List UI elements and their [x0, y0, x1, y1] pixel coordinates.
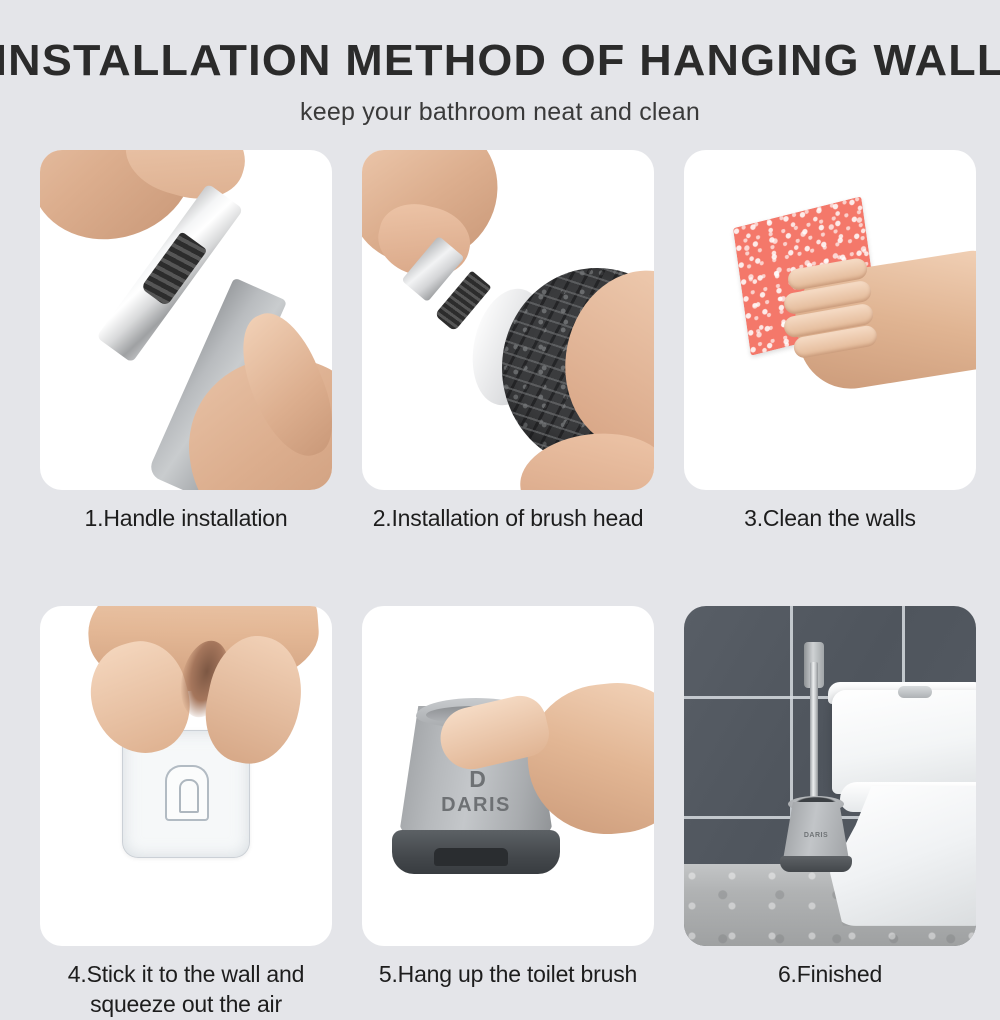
step-image-6: DARIS	[684, 606, 976, 946]
step-caption-4-line1: 4.Stick it to the wall and	[68, 961, 304, 987]
brand-name: DARIS	[782, 832, 850, 840]
step-image-2	[362, 150, 654, 490]
step-card-3: 3.Clean the walls	[684, 150, 976, 534]
page-title: INSTALLATION METHOD OF HANGING WALL	[0, 38, 1000, 84]
holder-drain-slot	[434, 848, 508, 866]
page-header: INSTALLATION METHOD OF HANGING WALL keep…	[0, 0, 1000, 127]
step-card-2: 2.Installation of brush head	[362, 150, 654, 534]
steps-row-2: 4.Stick it to the wall and squeeze out t…	[40, 606, 975, 1020]
step-caption-3: 3.Clean the walls	[684, 504, 976, 534]
step-image-3	[684, 150, 976, 490]
step-image-4	[40, 606, 332, 946]
hook-icon	[165, 765, 209, 821]
step-caption-4: 4.Stick it to the wall and squeeze out t…	[40, 960, 332, 1020]
step-caption-4-line2: squeeze out the air	[90, 991, 282, 1017]
step-card-5: D DARIS 5.Hang up the toilet brush	[362, 606, 654, 1020]
flush-button-icon	[898, 686, 932, 698]
steps-row-1: 1.Handle installation 2.Installation of …	[40, 150, 975, 534]
step-card-6: DARIS 6.Finished	[684, 606, 976, 1020]
step-image-5: D DARIS	[362, 606, 654, 946]
step-image-1	[40, 150, 332, 490]
toilet-tank	[832, 690, 976, 794]
step-caption-2: 2.Installation of brush head	[362, 504, 654, 534]
step-card-1: 1.Handle installation	[40, 150, 332, 534]
step-caption-1: 1.Handle installation	[40, 504, 332, 534]
page-subtitle: keep your bathroom neat and clean	[0, 98, 1000, 127]
step-card-4: 4.Stick it to the wall and squeeze out t…	[40, 606, 332, 1020]
step-caption-5: 5.Hang up the toilet brush	[362, 960, 654, 990]
steps-grid: 1.Handle installation 2.Installation of …	[40, 150, 975, 1020]
holder-base	[392, 830, 560, 874]
step-caption-6: 6.Finished	[684, 960, 976, 990]
mounted-holder-base	[780, 856, 852, 872]
